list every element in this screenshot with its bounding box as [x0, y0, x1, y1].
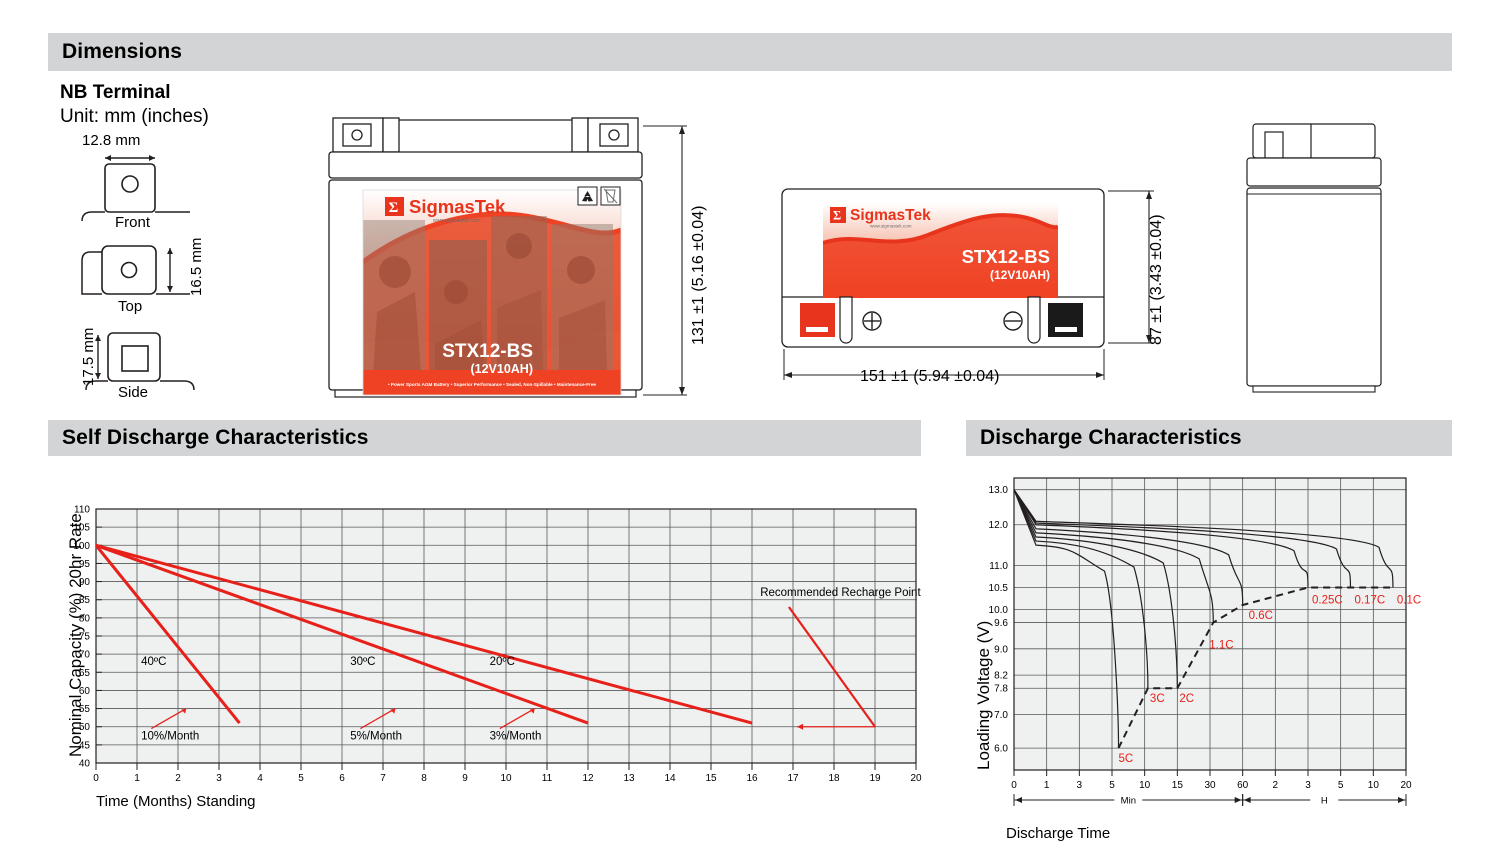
y-tick-label: 50: [79, 722, 91, 733]
svg-text:STX12-BS: STX12-BS: [442, 341, 533, 362]
x-tick-label: 10: [1368, 780, 1380, 791]
y-tick-label: 40: [79, 759, 91, 770]
x-tick-label: 0: [1011, 780, 1017, 791]
x-tick-label: 3: [1077, 780, 1083, 791]
x-tick-label: 11: [542, 773, 553, 784]
y-tick-label: 9.6: [994, 618, 1008, 629]
x-tick-label: 2: [175, 773, 181, 784]
y-tick-label: 100: [73, 541, 90, 552]
x-tick-label: 2: [1273, 780, 1279, 791]
y-tick-label: 60: [79, 686, 91, 697]
self-discharge-x-axis-title: Time (Months) Standing: [96, 793, 256, 810]
y-tick-label: 8.2: [994, 671, 1008, 682]
x-tick-label: 60: [1237, 780, 1249, 791]
y-tick-label: 13.0: [989, 485, 1009, 496]
discharge-x-axis-title: Discharge Time: [1006, 825, 1110, 842]
y-tick-label: 10.5: [989, 583, 1009, 594]
x-tick-label: 3: [1305, 780, 1311, 791]
svg-text:(12V10AH): (12V10AH): [470, 362, 533, 376]
c-rate-label-0.1C: 0.1C: [1397, 595, 1421, 607]
terminal-view-side-label: Side: [118, 384, 148, 401]
y-tick-label: 105: [73, 523, 90, 534]
section-header-self-discharge: Self Discharge Characteristics: [48, 420, 921, 456]
x-tick-label: 3: [216, 773, 222, 784]
y-tick-label: 7.8: [994, 684, 1008, 695]
y-tick-label: 7.0: [994, 710, 1008, 721]
y-tick-label: 9.0: [994, 644, 1008, 655]
section-header-discharge: Discharge Characteristics: [966, 420, 1452, 456]
svg-text:STX12-BS: STX12-BS: [962, 246, 1050, 267]
x-tick-label: 17: [787, 773, 799, 784]
y-tick-label: 75: [79, 632, 91, 643]
x-tick-label: 15: [1172, 780, 1184, 791]
y-tick-label: 6.0: [994, 744, 1008, 755]
section-title-discharge: Discharge Characteristics: [966, 426, 1242, 450]
recycle-icon: [578, 187, 597, 205]
x-tick-label: 20: [1400, 780, 1412, 791]
y-tick-label: 45: [79, 740, 91, 751]
x-tick-label: 12: [582, 773, 594, 784]
y-tick-label: 55: [79, 704, 91, 715]
chart-annotation: 20ºC: [490, 656, 515, 668]
chart-annotation: Recommended Recharge Point: [760, 587, 921, 599]
c-rate-label-5C: 5C: [1119, 753, 1134, 765]
self-discharge-chart: Nominal Capacity (%) 20hr Rate Time (Mon…: [48, 495, 928, 815]
terminal-heading: NB Terminal: [60, 82, 171, 104]
svg-text:Σ: Σ: [833, 209, 841, 223]
battery-front-view: Σ SigmasTek www.sigmastek.com STX12-BS (…: [325, 112, 715, 407]
axis-span-label: Min: [1121, 796, 1136, 807]
c-rate-label-3C: 3C: [1150, 693, 1165, 705]
y-tick-label: 110: [74, 505, 90, 516]
y-tick-label: 11.0: [989, 561, 1008, 572]
svg-text:www.sigmastek.com: www.sigmastek.com: [870, 224, 912, 229]
svg-text:• Power Sports AGM Battery •: • Power Sports AGM Battery • Superior Pe…: [388, 382, 596, 387]
battery-height-dimension-label: 131 ±1 (5.16 ±0.04): [690, 206, 708, 345]
x-tick-label: 7: [380, 773, 386, 784]
x-tick-label: 5: [1109, 780, 1115, 791]
c-rate-label-0.6C: 0.6C: [1249, 610, 1273, 622]
crossed-wheelie-bin-icon: [601, 187, 620, 205]
section-title-dimensions: Dimensions: [48, 40, 182, 64]
terminal-drawings: 12.8 mm Front Top Side 16.5 mm 17.5 mm: [60, 128, 300, 410]
c-rate-label-0.25C: 0.25C: [1312, 595, 1343, 607]
x-tick-label: 4: [257, 773, 263, 784]
x-tick-label: 10: [1139, 780, 1151, 791]
c-rate-label-1.1C: 1.1C: [1209, 640, 1233, 652]
y-tick-label: 10.0: [989, 605, 1009, 616]
y-tick-label: 95: [79, 559, 91, 570]
axis-span-label: H: [1321, 796, 1328, 807]
x-tick-label: 18: [828, 773, 840, 784]
svg-text:Σ: Σ: [389, 200, 399, 216]
x-tick-label: 14: [664, 773, 676, 784]
y-tick-label: 90: [79, 577, 91, 588]
battery-side-profile-view: [1235, 118, 1395, 398]
terminal-view-front-label: Front: [115, 214, 150, 231]
discharge-chart: Loading Voltage (V) Discharge Time 6.07.…: [966, 470, 1436, 850]
y-tick-label: 80: [79, 613, 91, 624]
y-tick-label: 85: [79, 595, 91, 606]
x-tick-label: 30: [1204, 780, 1216, 791]
x-tick-label: 8: [421, 773, 427, 784]
x-tick-label: 5: [298, 773, 304, 784]
x-tick-label: 5: [1338, 780, 1344, 791]
chart-annotation: 30ºC: [350, 656, 375, 668]
c-rate-label-0.17C: 0.17C: [1354, 595, 1385, 607]
battery-length-dimension-label: 151 ±1 (5.94 ±0.04): [860, 368, 999, 386]
x-tick-label: 10: [500, 773, 512, 784]
svg-text:www.sigmastek.com: www.sigmastek.com: [433, 218, 480, 224]
x-tick-label: 1: [1044, 780, 1050, 791]
terminal-depth-label: 17.5 mm: [80, 328, 97, 386]
svg-text:SigmasTek: SigmasTek: [850, 207, 931, 224]
section-title-self-discharge: Self Discharge Characteristics: [48, 426, 368, 450]
chart-annotation: 5%/Month: [350, 730, 402, 742]
y-tick-label: 65: [79, 668, 91, 679]
x-tick-label: 20: [910, 773, 922, 784]
y-tick-label: 70: [79, 650, 91, 661]
x-tick-label: 19: [869, 773, 881, 784]
terminal-unit-label: Unit: mm (inches): [60, 106, 209, 128]
svg-text:(12V10AH): (12V10AH): [990, 268, 1050, 282]
svg-text:SigmasTek: SigmasTek: [409, 196, 506, 217]
x-tick-label: 16: [746, 773, 758, 784]
battery-side-height-dimension-label: 87 ±1 (3.43 ±0.04): [1148, 214, 1166, 345]
x-tick-label: 15: [705, 773, 717, 784]
x-tick-label: 9: [462, 773, 468, 784]
x-tick-label: 0: [93, 773, 99, 784]
chart-annotation: 10%/Month: [141, 730, 199, 742]
c-rate-label-2C: 2C: [1179, 693, 1194, 705]
x-tick-label: 1: [134, 773, 140, 784]
y-tick-label: 12.0: [989, 520, 1009, 531]
x-tick-label: 13: [623, 773, 635, 784]
terminal-height-label: 16.5 mm: [188, 238, 205, 296]
section-header-dimensions: Dimensions: [48, 33, 1452, 71]
x-tick-label: 6: [339, 773, 345, 784]
chart-annotation: 3%/Month: [490, 730, 542, 742]
chart-annotation: 40ºC: [141, 656, 166, 668]
terminal-view-top-label: Top: [118, 298, 142, 315]
